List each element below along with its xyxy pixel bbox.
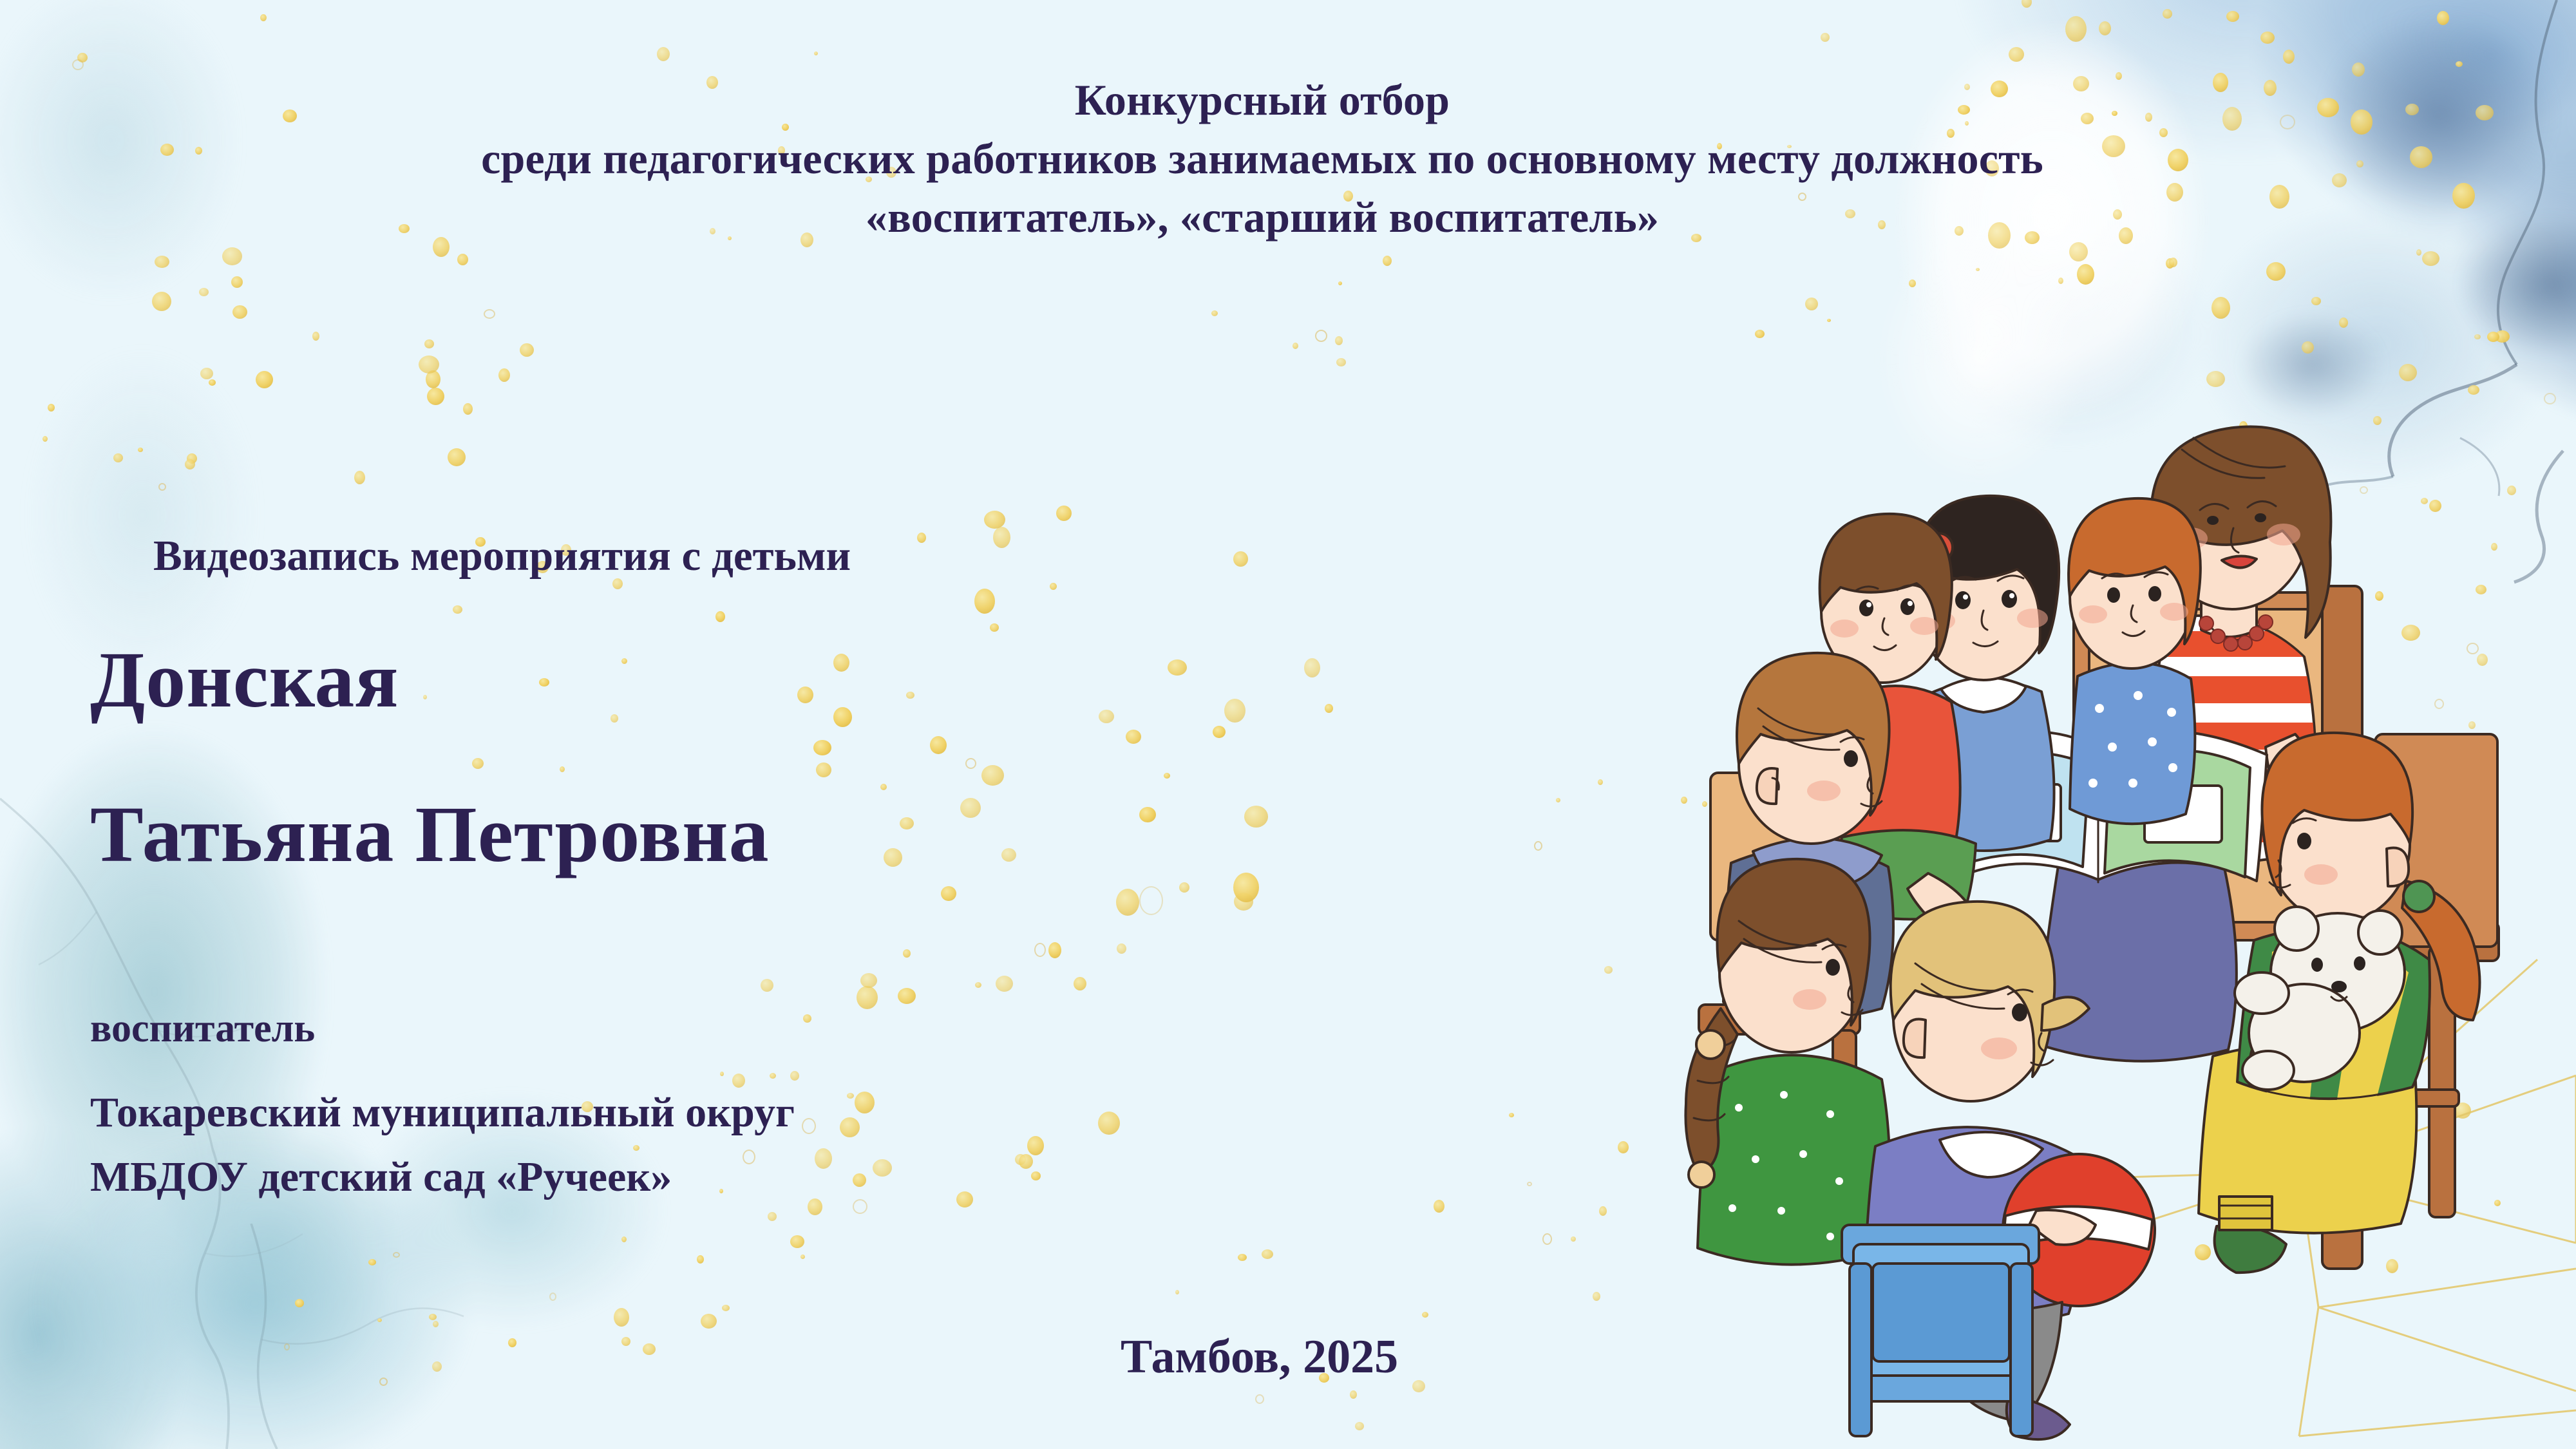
place-and-year: Тамбов, 2025	[1121, 1330, 1398, 1385]
participant-last-name: Донская	[90, 634, 399, 726]
blue-chair	[1842, 1225, 2039, 1436]
event-subtitle: Видеозапись мероприятия с детьми	[153, 531, 851, 581]
presentation-slide: .ol{stroke:#3b2a22;stroke-width:4;stroke…	[0, 0, 2576, 1449]
title-line-3: «воспитатель», «старший воспитатель»	[0, 188, 2524, 247]
title-line-1: Конкурсный отбор	[0, 71, 2524, 129]
participant-first-patronymic: Татьяна Петровна	[90, 789, 770, 880]
title-line-2: среди педагогических работников занимаем…	[0, 129, 2524, 188]
participant-role: воспитатель	[90, 1006, 315, 1052]
organization-district: Токаревский муниципальный округ	[90, 1088, 795, 1137]
teacher-reading-illustration: .ol{stroke:#3b2a22;stroke-width:4;stroke…	[1649, 374, 2563, 1443]
slide-title-block: Конкурсный отбор среди педагогических ра…	[0, 71, 2524, 247]
organization-kindergarten: МБДОУ детский сад «Ручеек»	[90, 1153, 672, 1202]
